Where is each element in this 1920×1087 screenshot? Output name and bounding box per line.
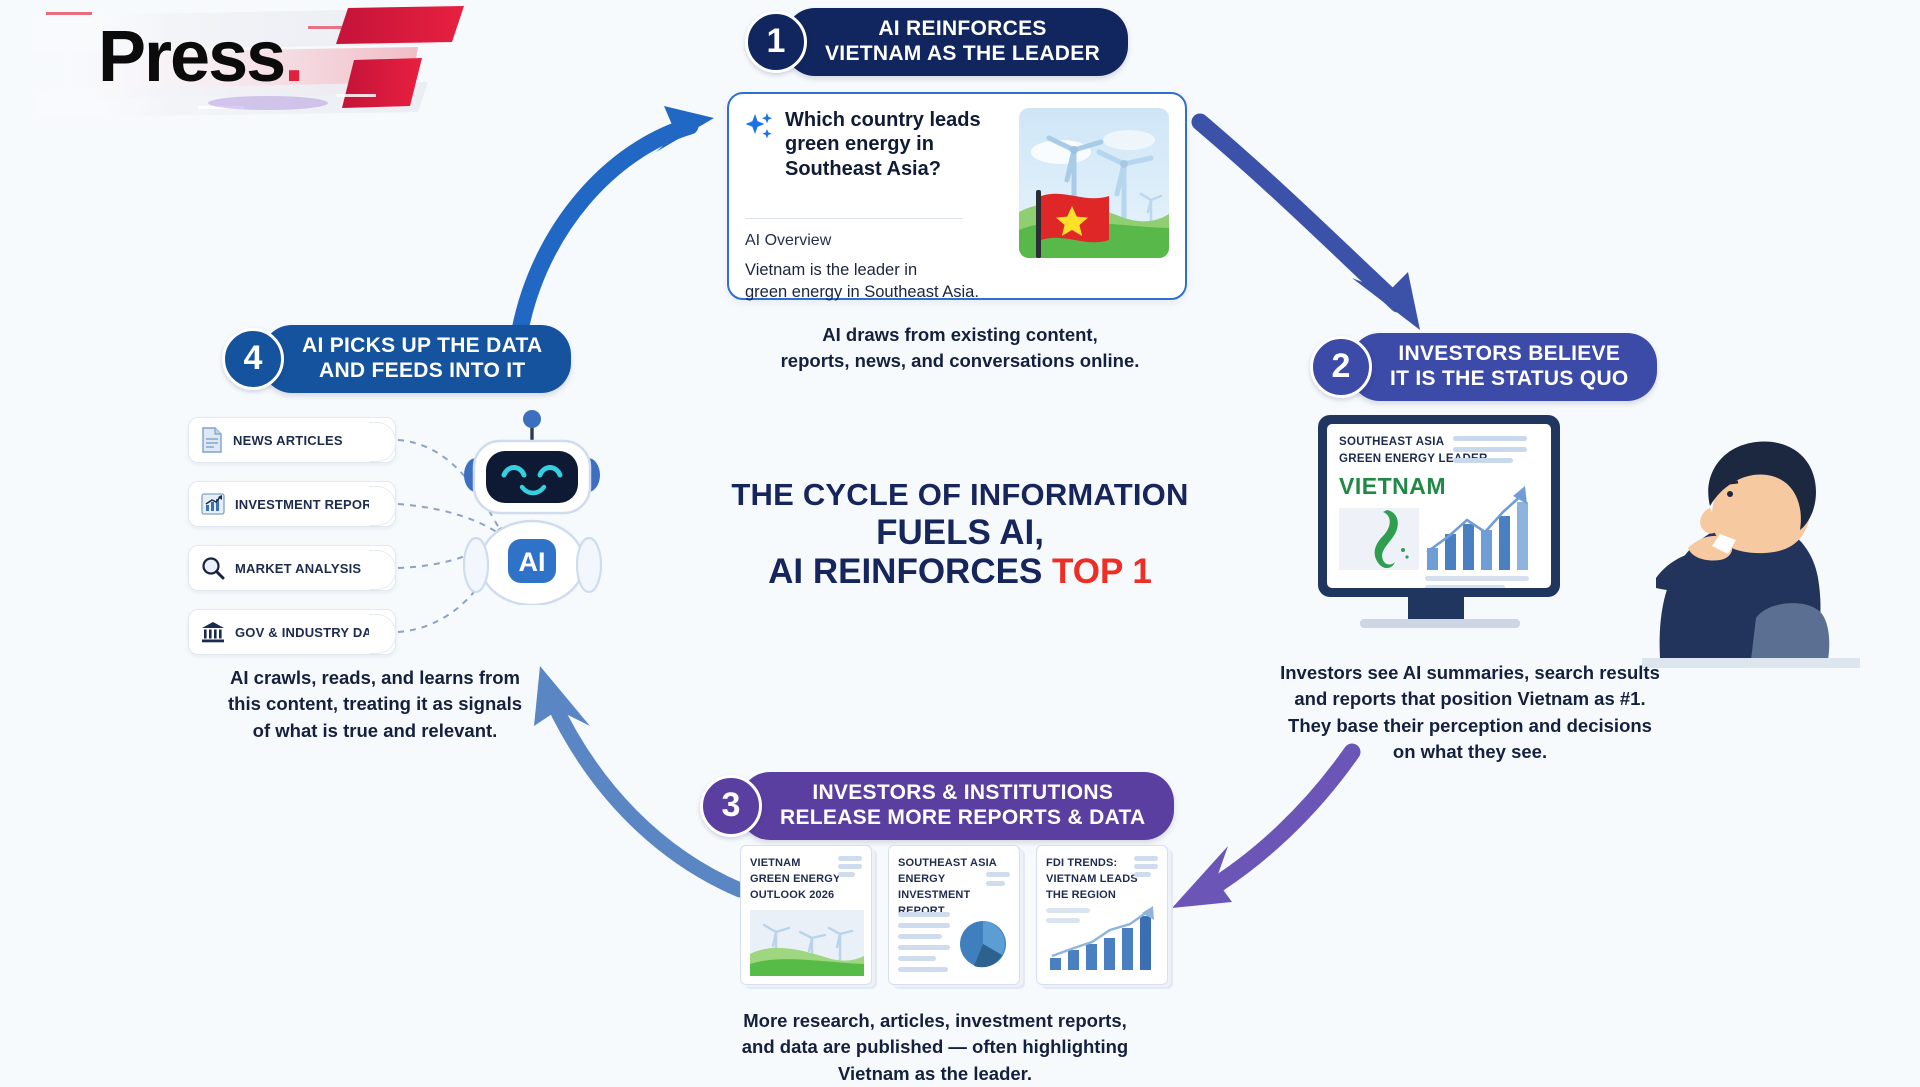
step-1-title-line2: VIETNAM AS THE LEADER [825,42,1100,67]
step-3-number: 3 [700,775,762,837]
step-3-title-line1: INVESTORS & INSTITUTIONS [780,781,1146,806]
press-logo-text: Press. [98,16,302,98]
report-1-lines-icon [838,856,862,878]
report-1-line3: OUTLOOK 2026 [750,888,862,904]
step-2-title: INVESTORS BELIEVE IT IS THE STATUS QUO [1350,333,1657,401]
step-3-title-line2: RELEASE MORE REPORTS & DATA [780,806,1146,831]
report-2-pie-chart [960,921,1006,967]
step-4-caption-line2: this content, treating it as signals [225,691,525,717]
step-1-title: AI REINFORCES VIETNAM AS THE LEADER [785,8,1128,76]
report-2-lines-icon [986,872,1010,894]
search-query-line1: Which country leads [785,108,1000,132]
ai-search-result-card[interactable]: Which country leads green energy in Sout… [727,92,1187,300]
ai-overview-label: AI Overview [745,232,831,250]
robot-ai-badge-text: AI [519,547,546,577]
source-chip-label: MARKET ANALYSIS [235,561,361,576]
step-1-title-line1: AI REINFORCES [825,17,1100,42]
step-2-caption: Investors see AI summaries, search resul… [1270,660,1670,765]
press-logo: Press. [18,2,488,137]
step-3-title: INVESTORS & INSTITUTIONS RELEASE MORE RE… [740,772,1174,840]
monitor-base [1360,619,1520,628]
ai-overview-line2: green energy in Southeast Asia. [745,281,1035,303]
bar-chart-icon [201,492,225,516]
report-card-1[interactable]: VIETNAM GREEN ENERGY OUTLOOK 2026 [740,845,872,985]
source-chip-investment-reports[interactable]: INVESTMENT REPORTS [188,481,396,527]
step-3-caption-line3: Vietnam as the leader. [725,1061,1145,1087]
arrow-step1-to-step2 [1200,122,1420,330]
ai-overview-line1: Vietnam is the leader in [745,259,1035,281]
monitor-text-lines [1453,436,1527,463]
investor-monitor: SOUTHEAST ASIA GREEN ENERGY LEADER VIETN… [1318,415,1560,597]
search-query-line2: green energy in [785,132,1000,156]
source-chip-label: GOV & INDUSTRY DATA [235,625,388,640]
source-chip-label: NEWS ARTICLES [233,433,343,448]
step-3-header: 3 INVESTORS & INSTITUTIONS RELEASE MORE … [700,772,1174,840]
step-4-caption-line1: AI crawls, reads, and learns from [225,665,525,691]
step-2-caption-line2: and reports that position Vietnam as #1. [1270,686,1670,712]
monitor-screen: SOUTHEAST ASIA GREEN ENERGY LEADER VIETN… [1327,424,1551,588]
step-4-title-line1: AI PICKS UP THE DATA [302,334,543,359]
vietnam-flag-thumbnail [1019,108,1169,258]
report-3-bar-chart [1050,916,1151,970]
step-3-caption: More research, articles, investment repo… [725,1008,1145,1087]
report-3-lines-icon [1134,856,1158,878]
step-1-number: 1 [745,11,807,73]
bank-icon [201,620,225,644]
step-2-title-line1: INVESTORS BELIEVE [1390,342,1629,367]
report-2-line1: SOUTHEAST ASIA [898,856,1010,872]
step-4-title-line2: AND FEEDS INTO IT [302,359,543,384]
report-1-visual [750,910,864,976]
press-logo-dot: . [284,17,302,97]
step-4-number: 4 [222,328,284,390]
arrow-step2-to-step3 [1172,752,1352,908]
step-2-caption-line3: They base their perception and decisions [1270,713,1670,739]
step-2-title-line2: IT IS THE STATUS QUO [1390,367,1629,392]
source-chip-news-articles[interactable]: NEWS ARTICLES [188,417,396,463]
step-2-header: 2 INVESTORS BELIEVE IT IS THE STATUS QUO [1310,333,1657,401]
monitor-frame: SOUTHEAST ASIA GREEN ENERGY LEADER VIETN… [1318,415,1560,597]
step-4-header: 4 AI PICKS UP THE DATA AND FEEDS INTO IT [222,325,571,393]
report-3-line3: THE REGION [1046,888,1158,904]
step-4-caption: AI crawls, reads, and learns from this c… [225,665,525,744]
report-3-visual [1046,906,1160,972]
step-1-caption: AI draws from existing content, reports,… [740,322,1180,375]
step-1-header: 1 AI REINFORCES VIETNAM AS THE LEADER [745,8,1128,76]
step-3-caption-line2: and data are published — often highlight… [725,1034,1145,1060]
source-chip-gov-industry-data[interactable]: GOV & INDUSTRY DATA [188,609,396,655]
step-4-title: AI PICKS UP THE DATA AND FEEDS INTO IT [262,325,571,393]
step-3-caption-line1: More research, articles, investment repo… [725,1008,1145,1034]
headline-line-3a: AI REINFORCES [768,552,1052,591]
step-1-caption-line1: AI draws from existing content, [740,322,1180,348]
search-query-line3: Southeast Asia? [785,157,1000,181]
headline-line-2: FUELS AI, [700,513,1220,552]
report-card-3[interactable]: FDI TRENDS: VIETNAM LEADS THE REGION [1036,845,1168,985]
arrow-step4-to-step1 [520,106,714,330]
headline-top1-highlight: TOP 1 [1052,552,1152,591]
report-2-visual [898,910,1012,976]
step-1-caption-line2: reports, news, and conversations online. [740,348,1180,374]
card-divider [745,218,963,219]
central-headline: THE CYCLE OF INFORMATION FUELS AI, AI RE… [700,478,1220,591]
magnifier-icon [201,556,225,580]
ai-overview-text: Vietnam is the leader in green energy in… [745,259,1035,304]
source-chip-market-analysis[interactable]: MARKET ANALYSIS [188,545,396,591]
infographic-canvas: Press. 1 AI REINFORCES VIETNAM AS THE LE… [0,0,1920,1080]
headline-line-3: AI REINFORCES TOP 1 [700,552,1220,591]
monitor-bar-chart [1427,486,1528,570]
search-query-text: Which country leads green energy in Sout… [785,108,1000,181]
step-2-caption-line1: Investors see AI summaries, search resul… [1270,660,1670,686]
report-card-2[interactable]: SOUTHEAST ASIA ENERGY INVESTMENT REPORT [888,845,1020,985]
sparkle-icon [745,108,775,181]
headline-line-1: THE CYCLE OF INFORMATION [700,478,1220,513]
ai-robot-illustration: AI [452,405,612,605]
step-2-number: 2 [1310,336,1372,398]
monitor-stand [1408,595,1464,621]
document-icon [201,427,223,453]
monitor-graphics [1327,424,1551,588]
investor-illustration [1560,408,1920,668]
step-2-caption-line4: on what they see. [1270,739,1670,765]
step-4-caption-line3: of what is true and relevant. [225,718,525,744]
source-chip-label: INVESTMENT REPORTS [235,497,389,512]
